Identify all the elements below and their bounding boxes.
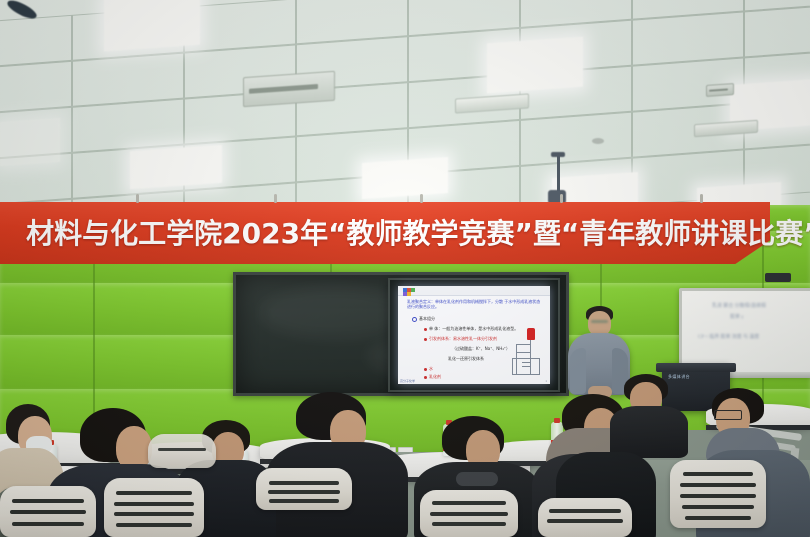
ceiling-light-panel — [0, 118, 60, 166]
event-banner: 材料与化工学院2023年“教师教学竞赛”暨“青年教师讲课比赛” — [0, 202, 770, 264]
lectern-surface — [656, 363, 736, 372]
slide-bullet-text: 基本组分 — [419, 316, 435, 321]
slide-bullet-text: 乳化—还原引发体系 — [448, 356, 484, 361]
slide-header-bar — [398, 286, 550, 296]
chair-back — [538, 498, 632, 537]
slide-page-number: 1 — [545, 379, 547, 383]
slide-bullet: 基本组分 — [412, 316, 435, 322]
smoke-detector-icon — [592, 138, 604, 144]
diagram-red-flask — [527, 328, 535, 340]
slide-bullet: （过硫酸盐：K⁺、Na⁺、NH₄⁺） — [452, 346, 510, 351]
slide-bullet: 水 — [424, 366, 433, 371]
ceiling-light-panel — [104, 0, 200, 51]
chair-back — [670, 460, 766, 528]
whiteboard-wall-mount — [765, 273, 791, 282]
classroom-chair[interactable] — [670, 460, 766, 528]
projector-mount-pole — [557, 156, 560, 194]
chair-back — [0, 486, 96, 537]
chair-back — [420, 490, 518, 537]
slide-bullet-text: 引发剂体系：易水溶性乳—体分引发剂 — [429, 336, 497, 341]
whiteboard-ink-line: CP = 临界 胶束 浓度 与 温度 — [698, 333, 759, 340]
slide-bullet: 乳化剂 — [424, 374, 441, 379]
slide-bullet-text: （过硫酸盐：K⁺、Na⁺、NH₄⁺） — [452, 346, 510, 351]
ceiling-air-vent — [706, 83, 734, 97]
classroom-chair[interactable] — [104, 478, 204, 537]
banner-title-text: 材料与化工学院2023年“教师教学竞赛”暨“青年教师讲课比赛” — [26, 212, 810, 252]
suspended-ceiling — [0, 0, 810, 215]
classroom-chair[interactable] — [256, 468, 352, 510]
presentation-slide: 乳液聚合定义：单体在乳化剂作用和机械搅拌下，分散 于水中形成乳液状态进行的聚合反… — [398, 286, 550, 384]
whiteboard-ink-line: 胶束 γ — [730, 313, 743, 320]
classroom-chair[interactable] — [420, 490, 518, 537]
whiteboard-ink-line: 乳液 聚合 分散相/连续相 — [712, 302, 766, 309]
classroom-chair[interactable] — [538, 498, 632, 537]
eyeglasses-icon — [714, 410, 742, 420]
chair-back — [148, 434, 216, 468]
projection-screen: 乳液聚合定义：单体在乳化剂作用和机械搅拌下，分散 于水中形成乳液状态进行的聚合反… — [388, 278, 560, 392]
audience-member — [280, 392, 400, 537]
ceiling-light-panel — [487, 37, 583, 94]
ceiling-light-panel — [130, 145, 222, 189]
projector-ceiling-plate — [551, 152, 565, 157]
audience-member — [612, 374, 686, 444]
audience-torso — [610, 406, 688, 458]
presenter-arm-left — [570, 348, 586, 394]
jacket-logo — [456, 472, 498, 486]
slide-bullet: 引发剂体系：易水溶性乳—体分引发剂 — [424, 336, 497, 341]
slide-footer-text: 高分子化学 — [400, 379, 415, 383]
slide-bullet: 乳化—还原引发体系 — [448, 356, 484, 361]
ceiling-light-panel — [362, 157, 448, 199]
slide-apparatus-diagram — [510, 328, 544, 376]
slide-bullet-text: 单 体：一般为油溶性单体，是水中形成乳化液型。 — [429, 326, 518, 331]
slide-bullet: 单 体：一般为油溶性单体，是水中形成乳化液型。 — [424, 326, 518, 331]
slide-bullet-text: 乳化剂 — [429, 374, 441, 379]
chair-back — [104, 478, 204, 537]
lecture-hall-photo: 材料与化工学院2023年“教师教学竞赛”暨“青年教师讲课比赛” 乳液聚合定义：单… — [0, 0, 810, 537]
whiteboard: 乳液 聚合 分散相/连续相 胶束 γ CP = 临界 胶束 浓度 与 温度 — [679, 288, 810, 375]
classroom-chair[interactable] — [148, 434, 216, 468]
presenter-glasses-icon — [591, 320, 608, 323]
slide-bullet-text: 水 — [429, 366, 433, 371]
slide-title: 乳液聚合定义：单体在乳化剂作用和机械搅拌下，分散 于水中形成乳液状态进行的聚合反… — [407, 299, 541, 309]
chair-back — [256, 468, 352, 510]
classroom-chair[interactable] — [0, 486, 96, 537]
